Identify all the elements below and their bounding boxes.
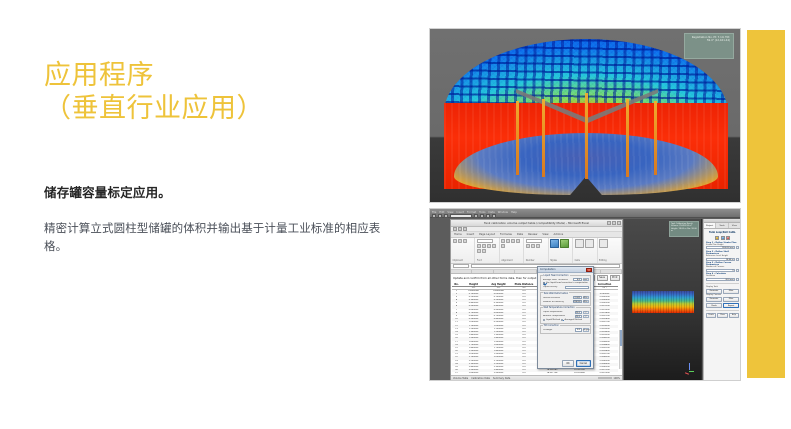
step-field-label: Strake Plan Height <box>706 244 739 246</box>
cell-styles-icon[interactable] <box>560 239 569 248</box>
worksheet-vertical-scrollbar[interactable] <box>619 330 623 370</box>
cut-icon[interactable] <box>458 239 462 243</box>
window-controls[interactable] <box>607 221 621 225</box>
support-column <box>585 93 588 179</box>
computation-dialog[interactable]: Computation ✕ Liquid Head Correction Ave… <box>537 266 594 369</box>
italic-icon[interactable] <box>482 244 486 248</box>
table-unit-label: (m) <box>486 287 511 289</box>
display-option-label: Display Tank <box>706 286 739 288</box>
plate-thickness-input[interactable]: 6.0 <box>573 278 582 281</box>
liquid-method-radio[interactable]: Liquid Method <box>543 319 561 321</box>
reference-level-height-field[interactable]: 18.00 m <box>706 258 739 261</box>
column-header-d[interactable] <box>515 270 536 273</box>
toolbar-icon-undo[interactable] <box>474 214 478 218</box>
ribbon-group-editing[interactable]: Editing <box>598 238 622 263</box>
stepper-icon[interactable] <box>736 246 739 249</box>
form-row[interactable]: Tilt Angle 0.0 degree <box>543 328 589 331</box>
ribbon-group-cells[interactable]: Cells <box>573 238 597 263</box>
deviation-field[interactable]: 30.0 mm <box>706 278 739 281</box>
ribbon-group-font[interactable]: Font <box>475 238 499 263</box>
strip-label: Tank Shell Strakes <box>636 309 654 311</box>
column-header-a[interactable] <box>451 270 472 273</box>
field-label: Liquid Temperature <box>543 311 574 313</box>
fieldset-legend: Tank Wall Deformation <box>543 292 570 295</box>
close-button[interactable]: Close <box>717 313 727 318</box>
tab-formulas[interactable]: Formulas <box>500 233 512 236</box>
paste-icon[interactable] <box>453 239 457 243</box>
column-header-b[interactable] <box>472 270 493 273</box>
toolbar-icon-redo[interactable] <box>480 214 484 218</box>
panel-tool-icons[interactable] <box>706 236 739 240</box>
form-row[interactable]: Liquid Temperature 20.0 °C <box>543 311 589 314</box>
reference-level-height-input[interactable]: 18.00 m <box>706 258 735 261</box>
fit-plane-icon[interactable] <box>721 236 725 240</box>
panel-tab-view[interactable]: View <box>729 223 741 228</box>
border-icon[interactable] <box>492 244 496 248</box>
menu-item[interactable]: Help <box>511 211 517 214</box>
tab-view[interactable]: View <box>542 233 548 236</box>
merge-cells-icon[interactable] <box>501 244 505 248</box>
ribbon-group-label: Clipboard <box>453 259 463 262</box>
averaged-method-radio[interactable]: Averaged Method <box>561 319 582 321</box>
fieldset-legend: Tilt Correction <box>543 324 560 327</box>
ribbon-group-label: Font <box>477 259 482 262</box>
align-right-icon[interactable] <box>511 239 515 243</box>
radio-icon[interactable] <box>543 319 545 321</box>
slide-subtitle: 储存罐容量标定应用。 <box>44 182 394 201</box>
panel-action-buttons[interactable]: Check Report <box>706 303 739 308</box>
field-label: Liquid Density <box>543 286 565 288</box>
delete-cells-icon[interactable] <box>585 239 594 248</box>
ribbon-group-styles[interactable]: Styles <box>549 238 573 263</box>
excel-window-title: Tank calibration volume output table (co… <box>484 221 589 225</box>
filter-toggle[interactable]: Filter <box>723 289 739 294</box>
fieldset-tilt-correction: Tilt Correction Tilt Angle 0.0 degree <box>540 325 591 334</box>
insert-cells-icon[interactable] <box>575 239 584 248</box>
form-row[interactable]: Internal Pressure 0.000 MPa <box>543 296 589 299</box>
tank-calibration-software-screenshot: File Edit View Insert Format Tools Data … <box>429 208 741 381</box>
field-label: Internal Pressure <box>543 297 572 299</box>
stepper-icon[interactable] <box>736 278 739 281</box>
properties-panel[interactable]: Project Tools View Tank Loop/Roll Calib.… <box>703 219 741 381</box>
toolbar-icon-select[interactable] <box>492 214 496 218</box>
panel-tab-tools[interactable]: Tools <box>716 223 728 228</box>
app-toolbar[interactable] <box>432 214 496 218</box>
autosum-icon[interactable] <box>599 239 608 248</box>
axis-y <box>689 371 694 372</box>
menu-item[interactable]: Window <box>498 211 508 214</box>
number-of-courses-field[interactable]: 9 <box>706 269 739 272</box>
table-unit-label: (m) <box>461 287 486 289</box>
number-of-courses-input[interactable]: 9 <box>706 269 735 272</box>
font-color-icon[interactable] <box>482 249 486 253</box>
panel-title: Tank Loop/Roll Calib. <box>706 231 739 234</box>
tab-insert[interactable]: Insert <box>467 233 474 236</box>
field-label: Tilt Angle <box>543 329 574 331</box>
dialog-footer[interactable]: OK Cancel <box>538 358 593 368</box>
tab-add-ins[interactable]: Add-Ins <box>554 233 564 236</box>
unit-select[interactable]: °C <box>583 311 589 314</box>
report-button[interactable]: Report <box>723 303 739 308</box>
copy-icon[interactable] <box>463 239 467 243</box>
help-button[interactable]: Help <box>729 313 739 318</box>
wrap-text-icon[interactable] <box>516 239 520 243</box>
form-row[interactable]: Average Plate Thickness 6.0 mm <box>543 278 589 281</box>
number-format-combo[interactable] <box>526 239 542 243</box>
zoom-level-label: 100% <box>613 377 620 380</box>
deviation-input[interactable]: 30.0 mm <box>706 278 735 281</box>
support-column <box>516 101 519 175</box>
fieldset-wall-temperature-correction: Wall Temperature Correction Liquid Tempe… <box>540 307 591 324</box>
conditional-formatting-icon[interactable] <box>550 239 559 248</box>
name-box[interactable] <box>453 264 469 268</box>
step-field-label: Deviation <box>706 275 739 277</box>
field-label: Modulus of Elasticity <box>543 301 572 303</box>
unit-select[interactable]: °C <box>583 315 589 318</box>
strake-plan-height-input[interactable]: 1500.00 mm <box>706 246 735 249</box>
support-column <box>654 101 657 175</box>
page-title-line-1: 应用程序 <box>44 60 154 91</box>
create-button[interactable]: Create <box>706 313 716 318</box>
table-column-header: Height <box>461 283 486 286</box>
checkbox-label: Use liquid head correction in computatio… <box>546 282 588 284</box>
sheet-tab[interactable]: Volume Table <box>453 377 468 380</box>
minimize-icon[interactable] <box>607 221 611 225</box>
font-name-combo[interactable] <box>477 239 493 243</box>
field-label: Average Plate Thickness <box>543 279 572 281</box>
dialog-title: Computation <box>540 268 555 271</box>
ok-button[interactable]: OK <box>562 360 573 367</box>
fill-color-icon[interactable] <box>477 249 481 253</box>
excel-title-bar: Tank calibration volume output table (co… <box>451 220 622 227</box>
tilt-angle-input[interactable]: 0.0 <box>575 328 582 331</box>
ribbon-group-clipboard[interactable]: Clipboard <box>451 238 475 263</box>
tab-data[interactable]: Data <box>517 233 523 236</box>
dialog-body: Liquid Head Correction Average Plate Thi… <box>538 273 593 359</box>
field-label: Ambient Temperature <box>543 315 574 317</box>
unit-select[interactable]: MPa <box>583 300 589 303</box>
sheet-tab[interactable]: Summary Data <box>493 377 510 380</box>
ribbon-group-label: Cells <box>575 259 580 262</box>
fieldset-liquid-head-correction: Liquid Head Correction Average Plate Thi… <box>540 275 591 292</box>
zoom-slider[interactable]: 100% <box>598 377 620 380</box>
column-header-c[interactable] <box>494 270 515 273</box>
maximize-icon[interactable] <box>612 221 616 225</box>
3d-viewport[interactable]: Tank Shell Strakes Tank Calibration Resu… <box>624 219 702 381</box>
qat-redo-icon[interactable] <box>463 227 467 231</box>
tab-home[interactable]: Home <box>454 233 462 236</box>
step-field-label: Reference Level Height <box>706 255 739 257</box>
strake-plan-height-field[interactable]: 1500.00 mm <box>706 246 739 249</box>
sheet-tab[interactable]: Calibration Data <box>471 377 490 380</box>
panel-tab-project[interactable]: Project <box>704 223 716 228</box>
generate-toggle[interactable]: Generate <box>706 289 722 294</box>
radio-label: Liquid Method <box>546 319 560 321</box>
excel-status-bar: Volume Table Calibration Data Summary Da… <box>451 375 622 380</box>
slide-text-column: 应用程序 （垂直行业应用） 储存罐容量标定应用。 精密计算立式圆柱型储罐的体积并… <box>44 26 394 255</box>
radio-icon[interactable] <box>561 319 563 321</box>
tab-page-layout[interactable]: Page Layout <box>479 233 495 236</box>
table-unit-label <box>452 287 461 289</box>
radio-label: Averaged Method <box>564 319 582 321</box>
liquid-temperature-input[interactable]: 20.0 <box>575 311 582 314</box>
use-liquid-head-checkbox[interactable]: Use liquid head correction in computatio… <box>543 282 589 284</box>
save-button[interactable]: Save <box>597 275 608 281</box>
stepper-icon[interactable] <box>736 269 739 272</box>
ambient-temperature-input[interactable]: 20.0 <box>575 315 582 318</box>
axis-triad-icon <box>685 363 694 374</box>
column-header-h[interactable] <box>601 270 622 273</box>
ribbon[interactable]: Clipboard Font Alignment Number <box>451 238 622 264</box>
pointcloud-tank-screenshot: Registration No. Pt: 7.1m Tilt: 59.4° (1… <box>429 28 741 203</box>
panel-footer-buttons[interactable]: Create Close Help <box>706 313 739 318</box>
dialog-title-bar: Computation ✕ <box>538 267 593 273</box>
scan-info-overlay-label: Registration No. Pt: 7.1m Tilt: 59.4° (1… <box>684 33 734 59</box>
accent-bar <box>747 30 785 378</box>
align-center-icon[interactable] <box>506 239 510 243</box>
checkbox-icon[interactable] <box>543 282 545 284</box>
measure-icon[interactable] <box>715 236 719 240</box>
toolbar-icon-new[interactable] <box>432 214 436 218</box>
axis-z <box>689 363 690 370</box>
tab-review[interactable]: Review <box>528 233 537 236</box>
ribbon-group-label: Alignment <box>501 259 512 262</box>
fieldset-legend: Liquid Head Correction <box>543 274 570 277</box>
check-button[interactable]: Check <box>706 303 722 308</box>
axis-x <box>685 372 689 374</box>
radio-group[interactable]: Liquid Method Averaged Method <box>543 319 589 321</box>
comma-icon[interactable] <box>536 244 540 248</box>
elastic-modulus-input[interactable]: 206000 <box>573 300 582 303</box>
support-column <box>542 99 545 177</box>
close-icon[interactable] <box>617 221 621 225</box>
generate-toggle[interactable]: Generate <box>706 297 722 302</box>
underline-icon[interactable] <box>487 244 491 248</box>
table-column-header: Correction <box>592 283 617 286</box>
ribbon-group-number[interactable]: Number <box>524 238 548 263</box>
cancel-button[interactable]: Cancel <box>576 360 591 367</box>
internal-pressure-input[interactable]: 0.000 <box>573 296 582 299</box>
stepper-icon[interactable] <box>736 258 739 261</box>
display-course-options[interactable]: Generate Filter <box>706 297 739 302</box>
table-unit-label: (m³) <box>592 287 617 289</box>
ribbon-group-label: Styles <box>550 259 557 262</box>
sheet-instruction-note: Update and confirm from all other forms … <box>453 276 546 280</box>
page-title-line-2: （垂直行业应用） <box>44 92 394 125</box>
currency-icon[interactable] <box>526 244 530 248</box>
filter-toggle[interactable]: Filter <box>723 297 739 302</box>
fieldset-tank-wall-deformation: Tank Wall Deformation Internal Pressure … <box>540 292 591 305</box>
panel-body: Tank Loop/Roll Calib. Step 1 : Define St… <box>704 229 741 381</box>
qat-undo-icon[interactable] <box>458 227 462 231</box>
table-column-header: Avg Height <box>486 283 511 286</box>
delete-icon[interactable] <box>726 236 730 240</box>
form-row[interactable]: Modulus of Elasticity 206000 MPa <box>543 300 589 303</box>
support-column <box>626 99 629 177</box>
form-row[interactable]: Liquid Density <box>543 286 589 289</box>
viewport-result-overlay: Tank Calibration Result Volume: 25,453.9… <box>669 221 699 237</box>
zoom-slider-track[interactable] <box>598 377 612 379</box>
qat-save-icon[interactable] <box>453 227 457 231</box>
table-unit-label: (m) <box>511 287 537 289</box>
liquid-density-input[interactable] <box>565 286 589 289</box>
slide-body-paragraph: 精密计算立式圆柱型储罐的体积并输出基于计量工业标准的相应表格。 <box>44 219 389 255</box>
display-option-label: Display Courses <box>706 294 739 296</box>
unit-select[interactable]: MPa <box>583 296 589 299</box>
bold-icon[interactable] <box>477 244 481 248</box>
percent-icon[interactable] <box>531 244 535 248</box>
toolbar-icon-zoom[interactable] <box>486 214 490 218</box>
form-row[interactable]: Ambient Temperature 20.0 °C <box>543 315 589 318</box>
ribbon-group-label: Number <box>526 259 535 262</box>
toolbar-icon-open[interactable] <box>438 214 442 218</box>
toolbar-combo-field[interactable] <box>450 214 472 218</box>
step-field-label: Number of Courses <box>706 266 739 268</box>
table-column-header: No. <box>452 283 461 286</box>
ribbon-group-label: Editing <box>599 259 607 262</box>
toolbar-icon-save[interactable] <box>444 214 448 218</box>
page-title: 应用程序 （垂直行业应用） <box>44 26 394 158</box>
print-button[interactable]: Print <box>610 275 621 281</box>
display-tank-options[interactable]: Generate Filter <box>706 289 739 294</box>
scrollbar-thumb[interactable] <box>620 330 623 346</box>
table-column-header: Plate Distance <box>511 283 537 286</box>
unit-select[interactable]: degree <box>583 328 589 331</box>
unit-select[interactable]: mm <box>583 278 589 281</box>
fieldset-legend: Wall Temperature Correction <box>543 306 576 309</box>
close-icon[interactable]: ✕ <box>586 268 592 272</box>
align-left-icon[interactable] <box>501 239 505 243</box>
ribbon-group-alignment[interactable]: Alignment <box>500 238 524 263</box>
